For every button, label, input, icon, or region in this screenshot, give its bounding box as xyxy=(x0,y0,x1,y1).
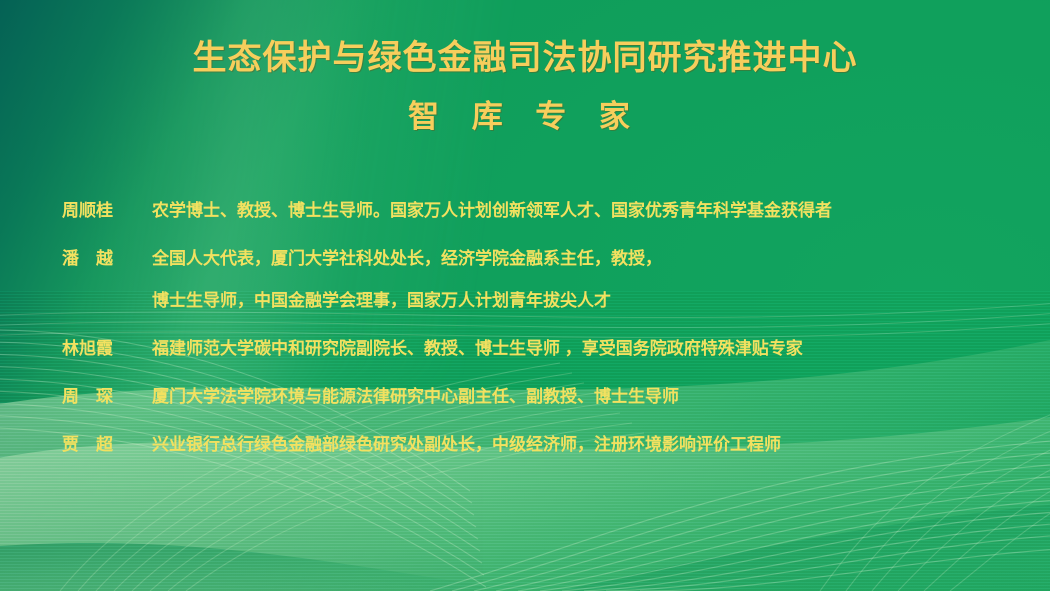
list-item: 周顺桂 农学博士、教授、博士生导师。国家万人计划创新领军人才、国家优秀青年科学基… xyxy=(62,190,1010,232)
expert-description-continued: 博士生导师，中国金融学会理事，国家万人计划青年拔尖人才 xyxy=(152,280,1010,322)
list-item: 贾 超 兴业银行总行绿色金融部绿色研究处副处长，中级经济师，注册环境影响评价工程… xyxy=(62,424,1010,466)
expert-description: 农学博士、教授、博士生导师。国家万人计划创新领军人才、国家优秀青年科学基金获得者 xyxy=(152,190,1010,232)
expert-description-wrap: 福建师范大学碳中和研究院副院长、教授、博士生导师 ，享受国务院政府特殊津贴专家 xyxy=(152,328,1010,370)
expert-description: 兴业银行总行绿色金融部绿色研究处副处长，中级经济师，注册环境影响评价工程师 xyxy=(152,424,1010,466)
expert-description-wrap: 兴业银行总行绿色金融部绿色研究处副处长，中级经济师，注册环境影响评价工程师 xyxy=(152,424,1010,466)
expert-name: 贾 超 xyxy=(62,424,152,466)
list-item: 林旭霞 福建师范大学碳中和研究院副院长、教授、博士生导师 ，享受国务院政府特殊津… xyxy=(62,328,1010,370)
expert-name: 周 琛 xyxy=(62,376,152,418)
poster-canvas: 生态保护与绿色金融司法协同研究推进中心 智 库 专 家 周顺桂 农学博士、教授、… xyxy=(0,0,1050,591)
page-subtitle: 智 库 专 家 xyxy=(0,91,1050,136)
expert-description-wrap: 厦门大学法学院环境与能源法律研究中心副主任、副教授、博士生导师 xyxy=(152,376,1010,418)
expert-description: 全国人大代表，厦门大学社科处处长，经济学院金融系主任，教授， xyxy=(152,238,1010,280)
list-item: 周 琛 厦门大学法学院环境与能源法律研究中心副主任、副教授、博士生导师 xyxy=(62,376,1010,418)
expert-name: 周顺桂 xyxy=(62,190,152,232)
title-block: 生态保护与绿色金融司法协同研究推进中心 智 库 专 家 xyxy=(0,38,1050,136)
expert-name: 潘 越 xyxy=(62,238,152,280)
expert-description: 福建师范大学碳中和研究院副院长、教授、博士生导师 ，享受国务院政府特殊津贴专家 xyxy=(152,328,1010,370)
expert-description: 厦门大学法学院环境与能源法律研究中心副主任、副教授、博士生导师 xyxy=(152,376,1010,418)
expert-description-wrap: 全国人大代表，厦门大学社科处处长，经济学院金融系主任，教授， 博士生导师，中国金… xyxy=(152,238,1010,322)
list-item: 潘 越 全国人大代表，厦门大学社科处处长，经济学院金融系主任，教授， 博士生导师… xyxy=(62,238,1010,322)
expert-description-wrap: 农学博士、教授、博士生导师。国家万人计划创新领军人才、国家优秀青年科学基金获得者 xyxy=(152,190,1010,232)
page-title: 生态保护与绿色金融司法协同研究推进中心 xyxy=(0,38,1050,79)
expert-list: 周顺桂 农学博士、教授、博士生导师。国家万人计划创新领军人才、国家优秀青年科学基… xyxy=(62,190,1010,472)
poster-content: 生态保护与绿色金融司法协同研究推进中心 智 库 专 家 周顺桂 农学博士、教授、… xyxy=(0,0,1050,591)
expert-name: 林旭霞 xyxy=(62,328,152,370)
